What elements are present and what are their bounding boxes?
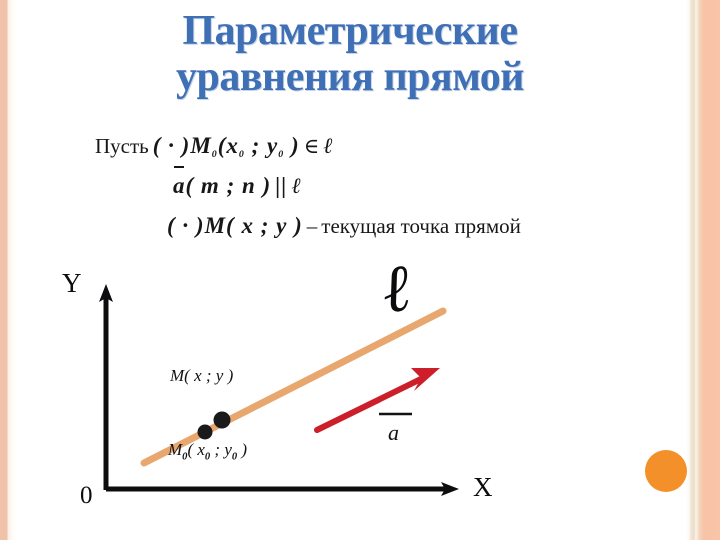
point-m0-marker (198, 425, 213, 440)
diagram-label-point-m: M( x ; y ) (170, 366, 233, 386)
line-symbol-ell-2: ℓ (291, 174, 300, 199)
statement-block: Пусть ( · )M0(x0 ; y0 ) ∈ ℓ a( m ; n ) |… (95, 133, 615, 253)
coord-separator-2: ; (220, 173, 242, 198)
statement-prefix: Пусть (95, 134, 149, 158)
point-name-m0: M (190, 133, 211, 158)
relation-belongs-to: ∈ (304, 134, 320, 158)
relation-parallel: || (275, 173, 287, 198)
diagram-line-symbol-ell: ℓ (378, 254, 414, 323)
point-description: текущая точка прямой (321, 214, 521, 238)
title-line-1: Параметрические (60, 8, 640, 54)
page-title: Параметрические уравнения прямой (60, 8, 640, 100)
coord-y0: y (267, 133, 278, 158)
coord-y: y (276, 213, 287, 238)
coord-x0: x (226, 133, 239, 158)
line-symbol-ell-1: ℓ (323, 134, 332, 159)
point-marker-m0: ( · ) (153, 133, 191, 158)
slide-canvas: Параметрические уравнения прямой Пусть (… (0, 0, 720, 540)
dash-separator: – (307, 214, 318, 238)
m0-open-x: ( x (187, 440, 204, 459)
coord-x: x (241, 213, 254, 238)
point-m-marker (214, 412, 231, 429)
paren-open-3: ( (226, 213, 241, 238)
statement-line-2: a( m ; n ) || ℓ (95, 173, 615, 213)
x-axis-arrowhead (441, 482, 459, 496)
origin-label: 0 (80, 482, 93, 510)
m0-separator: ; y (210, 440, 232, 459)
paren-open-2: ( (186, 173, 201, 198)
right-border-stripe (686, 0, 720, 540)
vector-component-n: n (242, 173, 256, 198)
y-axis-arrowhead (99, 284, 113, 302)
m0-name: M (168, 440, 182, 459)
diagram-label-point-m0: M0( x0 ; y0 ) (168, 440, 247, 462)
coord-separator-1: ; (245, 133, 267, 158)
vector-a-arrow-shaft (317, 377, 425, 430)
vector-name-a: a (173, 173, 186, 199)
axis-label-y: Y (62, 268, 82, 299)
point-marker-m: ( · ) (167, 213, 205, 238)
m0-close: ) (237, 440, 247, 459)
left-border-stripe (0, 0, 16, 540)
statement-line-1: Пусть ( · )M0(x0 ; y0 ) ∈ ℓ (95, 133, 615, 173)
diagram-label-vector-a: a (388, 420, 399, 446)
statement-line-3: ( · )M( x ; y ) – текущая точка прямой (95, 213, 615, 253)
axis-label-x: X (473, 472, 493, 503)
decorative-orange-circle (645, 450, 687, 492)
paren-close-3: ) (287, 213, 302, 238)
paren-close-1: ) (284, 133, 299, 158)
point-name-m: M (205, 213, 226, 238)
vector-component-m: m (201, 173, 220, 198)
title-line-2: уравнения прямой (60, 54, 640, 100)
coord-separator-3: ; (254, 213, 276, 238)
vector-a-arrowhead (411, 368, 440, 391)
paren-close-2: ) (256, 173, 271, 198)
